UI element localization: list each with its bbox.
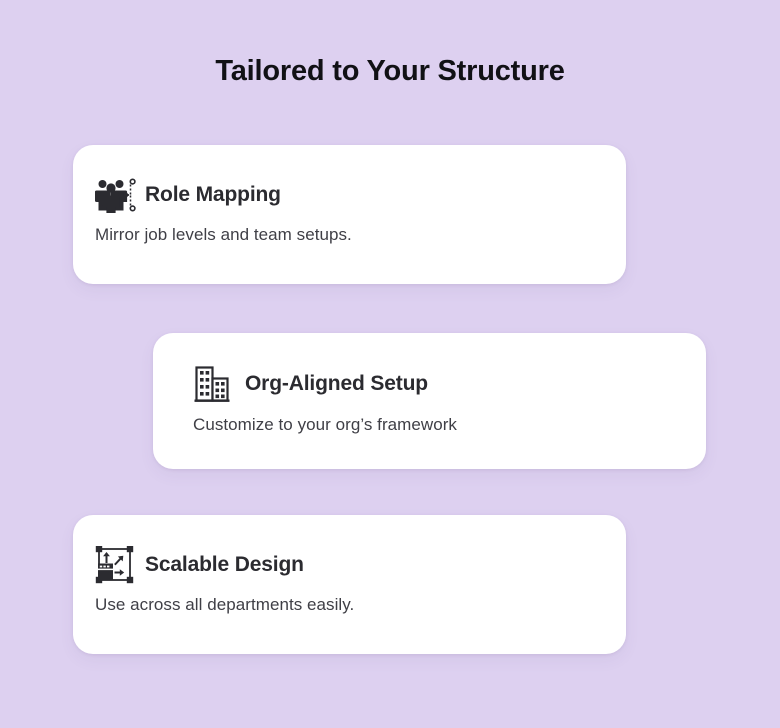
feature-cards-page: Tailored to Your Structure [0,0,780,728]
card-description: Customize to your org’s framework [193,414,684,437]
card-description: Mirror job levels and team setups. [95,224,604,247]
card-title: Scalable Design [145,553,304,577]
card-content: Scalable Design Use across all departmen… [95,545,604,617]
card-header: Org-Aligned Setup [193,364,684,404]
feature-card-scalable-design[interactable]: Scalable Design Use across all departmen… [73,515,626,654]
scale-resize-icon [95,545,137,585]
feature-card-role-mapping[interactable]: Role Mapping Mirror job levels and team … [73,145,626,284]
card-title: Org-Aligned Setup [245,372,428,396]
card-description: Use across all departments easily. [95,594,604,617]
feature-card-org-aligned-setup[interactable]: Org-Aligned Setup Customize to your org’… [153,333,706,469]
card-header: Role Mapping [95,175,604,215]
card-content: Role Mapping Mirror job levels and team … [95,175,604,247]
card-content: Org-Aligned Setup Customize to your org’… [193,364,684,437]
people-org-chart-icon [95,175,137,215]
card-header: Scalable Design [95,545,604,585]
card-title: Role Mapping [145,183,281,207]
office-buildings-icon [193,364,237,404]
page-title: Tailored to Your Structure [0,53,780,91]
